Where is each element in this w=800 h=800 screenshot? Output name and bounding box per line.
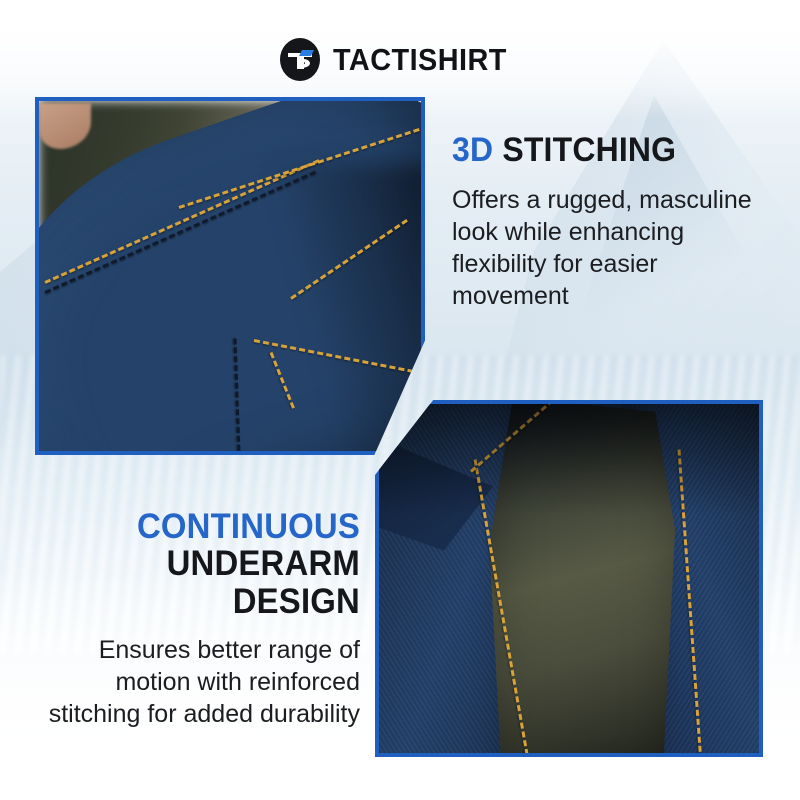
brand-name: TACTISHIRT	[333, 44, 507, 75]
photo-underarm-gusset	[379, 404, 759, 753]
feature-headline-underarm: CONTINUOUS UNDERARM DESIGN	[40, 508, 360, 620]
feature-text-underarm: CONTINUOUS UNDERARM DESIGN Ensures bette…	[20, 508, 360, 730]
headline-rest: STITCHING	[502, 131, 676, 169]
ts-monogram-icon	[280, 38, 320, 81]
feature-photo-stitching	[35, 97, 425, 455]
product-feature-infographic: TACTISHIRT	[0, 0, 800, 800]
feature-photo-underarm	[375, 400, 763, 757]
feature-text-stitching: 3D STITCHING Offers a rugged, masculine …	[452, 132, 770, 312]
headline-rest: UNDERARM DESIGN	[167, 544, 360, 620]
brand-header: TACTISHIRT	[0, 38, 800, 81]
feature-body-underarm: Ensures better range of motion with rein…	[20, 634, 360, 730]
headline-accent: 3D	[452, 131, 493, 169]
headline-accent: CONTINUOUS	[137, 507, 360, 546]
feature-headline-stitching: 3D STITCHING	[452, 132, 751, 168]
fabric-shadow	[379, 404, 759, 516]
photo-shoulder-seam	[39, 101, 421, 451]
feature-body-stitching: Offers a rugged, masculine look while en…	[452, 184, 770, 312]
